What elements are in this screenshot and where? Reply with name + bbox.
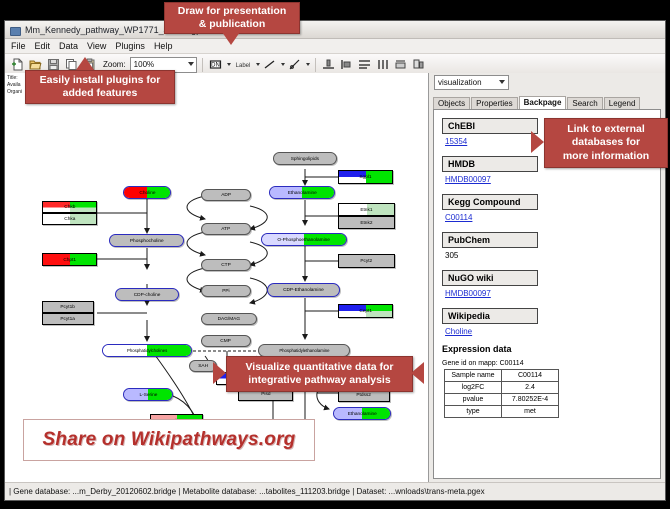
section-header-nugo: NuGO wiki xyxy=(442,270,538,286)
callout-plugins: Easily install plugins for added feature… xyxy=(25,70,175,104)
callout-arrow-up xyxy=(76,57,94,70)
callout-share: Share on Wikipathways.org xyxy=(23,419,315,461)
node-cdp-ethanolamine[interactable]: CDP-Ethanolamine xyxy=(267,283,340,297)
app-icon xyxy=(10,25,20,35)
node-etnk1[interactable]: Etnk1 xyxy=(338,203,395,216)
table-row: Sample name C00114 xyxy=(445,370,559,382)
expression-table: Sample name C00114 log2FC 2.4 pvalue 7.8… xyxy=(444,369,559,418)
value-pubchem: 305 xyxy=(445,251,654,260)
chevron-down-icon xyxy=(499,80,505,84)
section-header-pubchem: PubChem xyxy=(442,232,538,248)
link-nugo[interactable]: HMDB00097 xyxy=(445,289,654,298)
link-wikipedia[interactable]: Choline xyxy=(445,327,654,336)
cell-value: C00114 xyxy=(502,370,559,382)
menu-item-file[interactable]: File xyxy=(11,41,26,51)
tab-backpage[interactable]: Backpage xyxy=(519,96,567,109)
zoom-value: 100% xyxy=(134,60,154,69)
node-phosphatidylcholines[interactable]: Phosphatidylcholines xyxy=(102,344,192,357)
label-icon[interactable]: Label xyxy=(233,57,253,73)
node-choline-top[interactable]: Choline xyxy=(123,186,171,199)
new-icon[interactable] xyxy=(9,57,25,73)
node-pcyt1a[interactable]: Pcyt1a xyxy=(42,313,94,325)
node-sphingolipids[interactable]: Sphingolipids xyxy=(273,152,337,165)
cell-value: met xyxy=(502,406,559,418)
node-phosphocholine[interactable]: Phosphocholine xyxy=(109,234,184,247)
callout-arrow-down xyxy=(222,32,240,45)
align-bottom-icon[interactable] xyxy=(321,57,337,73)
tab-properties[interactable]: Properties xyxy=(471,97,517,109)
line-icon[interactable] xyxy=(262,57,278,73)
tab-search[interactable]: Search xyxy=(567,97,602,109)
gene-id-line: Gene id on mapp: C00114 xyxy=(442,360,654,367)
visualization-value: visualization xyxy=(438,78,482,87)
menu-item-edit[interactable]: Edit xyxy=(35,41,51,51)
node-ethanolamine-top[interactable]: Ethanolamine xyxy=(269,186,335,199)
expression-data-title: Expression data xyxy=(442,344,654,354)
chevron-down-icon[interactable] xyxy=(281,63,285,66)
node-o-phosphoethanolamine[interactable]: O-Phosphoethanolamine xyxy=(261,233,347,246)
toolbar-separator xyxy=(202,58,203,72)
title-bar: Mm_Kennedy_pathway_WP1771_45176.gpml xyxy=(5,21,665,39)
node-chka[interactable]: Chka xyxy=(42,213,97,225)
distribute-icon[interactable] xyxy=(375,57,391,73)
group-icon[interactable] xyxy=(393,57,409,73)
menu-item-help[interactable]: Help xyxy=(154,41,173,51)
svg-text:Label: Label xyxy=(235,63,250,69)
table-row: pvalue 7.80252E-4 xyxy=(445,394,559,406)
node-cmp[interactable]: CMP xyxy=(201,335,251,347)
section-header-wikipedia: Wikipedia xyxy=(442,308,538,324)
stack-icon[interactable] xyxy=(357,57,373,73)
cell-key: Sample name xyxy=(445,370,502,382)
tab-objects[interactable]: Objects xyxy=(433,97,470,109)
callout-visualize: Visualize quantitative data for integrat… xyxy=(226,356,413,392)
chevron-down-icon[interactable] xyxy=(306,63,310,66)
callout-draw: Draw for presentation & publication xyxy=(164,2,300,34)
side-panel-tabs: Objects Properties Backpage Search Legen… xyxy=(433,95,663,109)
chevron-down-icon[interactable] xyxy=(227,63,231,66)
node-dagmag[interactable]: DAG/MAG xyxy=(201,313,257,325)
cell-value: 7.80252E-4 xyxy=(502,394,559,406)
status-text: | Gene database: ...m_Derby_20120602.bri… xyxy=(5,487,485,496)
node-pcyt1b[interactable]: Pcyt1b xyxy=(42,301,94,313)
node-atp[interactable]: ATP xyxy=(201,223,251,235)
link-kegg[interactable]: C00114 xyxy=(445,213,654,222)
menu-item-plugins[interactable]: Plugins xyxy=(115,41,145,51)
table-row: type met xyxy=(445,406,559,418)
share-text: Share on Wikipathways.org xyxy=(43,429,296,451)
cell-key: log2FC xyxy=(445,382,502,394)
zoom-label: Zoom: xyxy=(103,60,126,69)
node-chkb[interactable]: Chkb xyxy=(42,201,97,213)
node-pcyt2[interactable]: Pcyt2 xyxy=(338,254,395,268)
toolbar-separator xyxy=(315,58,316,72)
table-row: log2FC 2.4 xyxy=(445,382,559,394)
node-l-serine-left[interactable]: L-Serine xyxy=(123,388,173,401)
node-ethanolamine-bottom[interactable]: Ethanolamine xyxy=(333,407,391,420)
node-ppi[interactable]: PPi xyxy=(201,285,251,297)
cell-key: type xyxy=(445,406,502,418)
callout-links: Link to external databases for more info… xyxy=(544,118,668,168)
visualization-dropdown[interactable]: visualization xyxy=(434,75,509,90)
chevron-down-icon[interactable] xyxy=(256,63,260,66)
chevron-down-icon xyxy=(188,62,194,66)
node-cdp-choline[interactable]: CDP-choline xyxy=(115,288,179,301)
order-icon[interactable] xyxy=(411,57,427,73)
node-cept1[interactable]: Cept1 xyxy=(338,304,393,318)
node-sgpl1[interactable]: Sgpl1 xyxy=(338,170,393,184)
node-adp[interactable]: ADP xyxy=(201,189,251,201)
menu-item-view[interactable]: View xyxy=(87,41,106,51)
screenshot-root: Mm_Kennedy_pathway_WP1771_45176.gpml Fil… xyxy=(0,0,670,509)
align-left-icon[interactable] xyxy=(339,57,355,73)
link-hmdb[interactable]: HMDB00097 xyxy=(445,175,654,184)
callout-arrow-left xyxy=(213,362,226,384)
section-header-hmdb: HMDB xyxy=(442,156,538,172)
section-header-kegg: Kegg Compound xyxy=(442,194,538,210)
menu-bar: File Edit Data View Plugins Help xyxy=(5,39,665,54)
svg-text:DN: DN xyxy=(211,63,220,69)
callout-arrow-right xyxy=(411,362,424,384)
node-chpt1[interactable]: Chpt1 xyxy=(42,253,97,266)
node-etnk2[interactable]: Etnk2 xyxy=(338,216,395,229)
datanode-icon[interactable]: DN xyxy=(208,57,224,73)
tab-legend[interactable]: Legend xyxy=(604,97,641,109)
menu-item-data[interactable]: Data xyxy=(59,41,78,51)
section-header-chebi: ChEBI xyxy=(442,118,538,134)
status-bar: | Gene database: ...m_Derby_20120602.bri… xyxy=(5,482,665,500)
callout-arrow-left xyxy=(531,131,544,153)
cell-key: pvalue xyxy=(445,394,502,406)
cell-value: 2.4 xyxy=(502,382,559,394)
interaction-icon[interactable] xyxy=(287,57,303,73)
